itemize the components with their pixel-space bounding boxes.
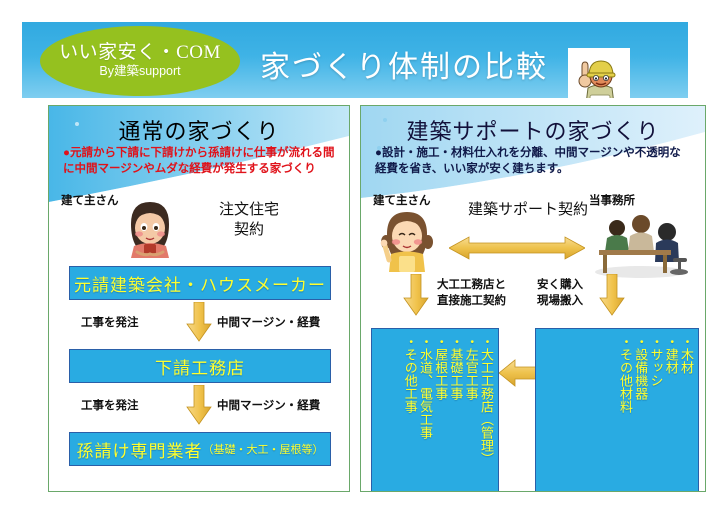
construction-trade-column: ・左官工事	[465, 335, 478, 400]
box-sub-subcontractor-label: 孫請け専門業者	[77, 437, 203, 462]
arrow-down-icon	[186, 385, 212, 425]
slide-canvas: いい家安く・COM By建築support 家づくり体制の比較	[0, 0, 710, 527]
page-title: 家づくり体制の比較	[260, 42, 550, 86]
header-band: いい家安く・COM By建築support 家づくり体制の比較	[22, 22, 688, 98]
box-prime-contractor: 元請建築会社・ハウスメーカー	[69, 266, 331, 300]
arrow-down-icon	[186, 302, 212, 342]
arrow2-label-right: 中間マージン・経費	[217, 397, 320, 413]
construction-trade-column: ・水道、電気工事	[419, 335, 432, 439]
left-contract-label: 注文住宅契約	[189, 200, 309, 241]
construction-trade-column: ・屋根工事	[434, 335, 447, 400]
panel-conventional: 通常の家づくり ●元請から下請に下請けから孫請けに仕事が流れる間に中間マージンや…	[48, 105, 350, 492]
box-sub-subcontractor-sublabel: （基礎・大工・屋根等）	[203, 441, 324, 457]
arrow-down-icon	[403, 274, 429, 316]
construction-trade-column: ・基礎工事	[449, 335, 462, 400]
female-client-icon	[375, 204, 439, 274]
box-subcontractor: 下請工務店	[69, 349, 331, 383]
arrow1-label-left: 工事を発注	[81, 314, 139, 330]
arrow2-label-left: 工事を発注	[81, 397, 139, 413]
construction-trade-column: ・その他工事	[404, 335, 417, 413]
office-meeting-icon	[589, 206, 693, 278]
material-item-column: ・建材	[665, 335, 678, 374]
material-item-column: ・設備機器	[634, 335, 647, 400]
left-panel-lead: ●元請から下請に下請けから孫請けに仕事が流れる間に中間マージンやムダな経費が発生…	[63, 146, 335, 177]
panel-support: 建築サポートの家づくり ●設計・施工・材料仕入れを分離、中間マージンや不透明な経…	[360, 105, 706, 492]
left-panel-title: 通常の家づくり	[49, 114, 349, 146]
arrow-down-icon	[599, 274, 625, 316]
box-sub-subcontractor: 孫請け専門業者（基礎・大工・屋根等）	[69, 432, 331, 466]
material-item-column: ・サッシ	[649, 335, 662, 387]
box-materials: ・木材・建材・サッシ・設備機器・その他材料	[535, 328, 699, 492]
material-item-column: ・その他材料	[619, 335, 632, 413]
construction-trade-column: ・大工工務店（管理）	[480, 335, 493, 465]
logo-badge: いい家安く・COM By建築support	[40, 26, 240, 96]
double-arrow-horizontal-icon	[449, 234, 585, 262]
box-subcontractor-label: 下請工務店	[155, 354, 245, 379]
left-client-label: 建て主さん	[61, 192, 119, 208]
arrow1-label-right: 中間マージン・経費	[217, 314, 320, 330]
construction-worker-icon	[568, 48, 630, 98]
female-client-icon	[117, 194, 183, 260]
arrow-left-column-label: 大工工務店と 直接施工契約	[437, 278, 506, 309]
arrow-right-column-label: 安く購入 現場搬入	[537, 278, 583, 309]
logo-sub-text: By建築support	[99, 65, 180, 79]
right-panel-lead: ●設計・施工・材料仕入れを分離、中間マージンや不透明な経費を省き、いい家が安く建…	[375, 146, 691, 177]
right-panel-title: 建築サポートの家づくり	[361, 114, 705, 146]
box-prime-contractor-label: 元請建築会社・ハウスメーカー	[74, 271, 326, 296]
support-contract-label: 建築サポート契約	[453, 200, 603, 220]
material-item-column: ・木材	[680, 335, 693, 374]
box-construction-trades: ・大工工務店（管理）・左官工事・基礎工事・屋根工事・水道、電気工事・その他工事	[371, 328, 499, 492]
logo-main-text: いい家安く・COM	[59, 43, 221, 63]
